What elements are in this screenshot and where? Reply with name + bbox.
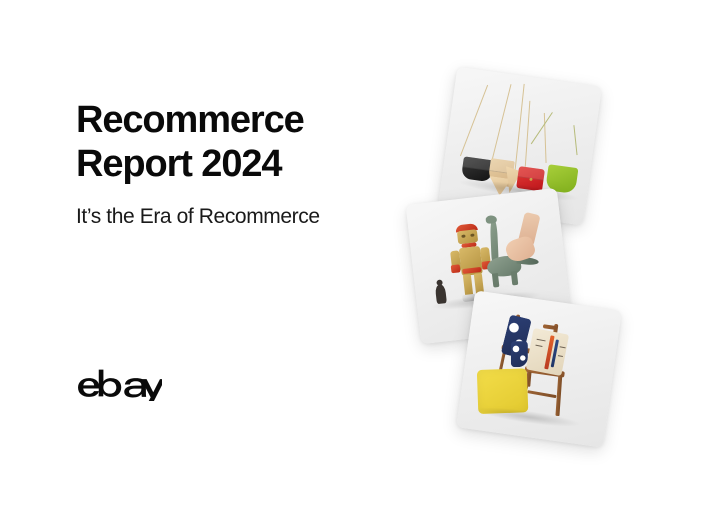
card-home-goods-photo (456, 290, 622, 447)
bag-clasp (530, 178, 533, 181)
bag-strap (525, 101, 531, 167)
cushion-dash (558, 355, 563, 357)
chair-stretcher (527, 390, 556, 398)
bag-strap (515, 84, 525, 170)
throw-navy-tiedye (511, 341, 528, 367)
object-shadow (476, 404, 581, 430)
bag-strap (573, 125, 577, 155)
dinosaur-leg (511, 271, 519, 286)
cushion-dash (535, 345, 542, 347)
page-title: Recommerce Report 2024 (76, 98, 406, 186)
home-goods-scene (456, 290, 622, 447)
page-subtitle: It’s the Era of Recommerce (76, 204, 406, 230)
cushion-dash (560, 346, 566, 348)
cushion-cream-patterned (526, 328, 569, 376)
title-block: Recommerce Report 2024 It’s the Era of R… (76, 98, 406, 230)
photo-card-stack (405, 60, 705, 450)
chair-leg (555, 376, 562, 416)
bag-strap (531, 112, 553, 144)
robot-hand-left (451, 264, 461, 273)
slide-canvas: Recommerce Report 2024 It’s the Era of R… (0, 0, 719, 508)
ebay-logo (76, 367, 162, 401)
cushion-dash (537, 339, 546, 342)
bag-strap (460, 85, 488, 156)
bag-strap (490, 84, 511, 166)
